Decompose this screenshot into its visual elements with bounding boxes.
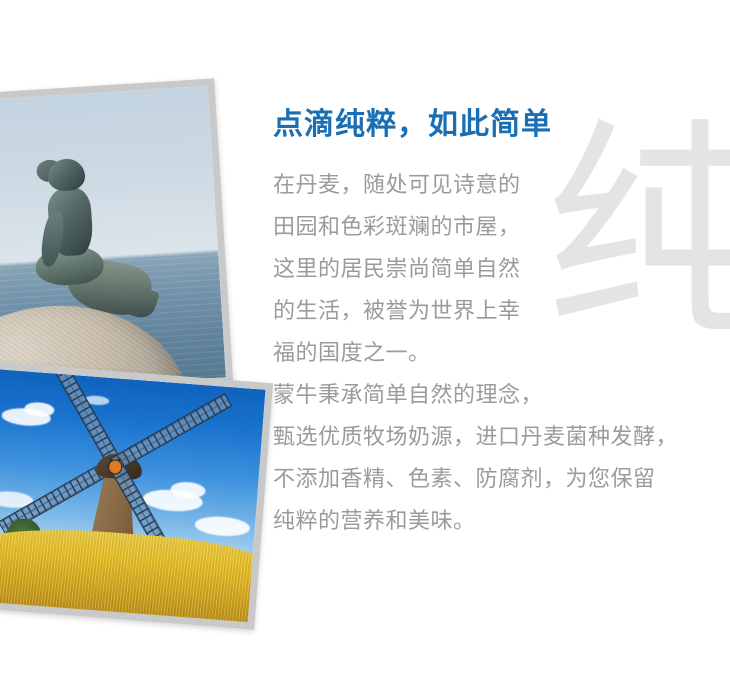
little-mermaid-statue-photo: [0, 78, 233, 399]
statue-head: [47, 158, 86, 192]
windmill-scene: [0, 369, 266, 622]
text-line: 在丹麦，随处可见诗意的: [273, 164, 725, 206]
text-line: 不添加香精、色素、防腐剂，为您保留: [273, 458, 725, 500]
text-line: 的生活，被誉为世界上幸: [273, 290, 725, 332]
mermaid-scene: [0, 86, 226, 392]
copy-column: 点滴纯粹，如此简单 在丹麦，随处可见诗意的 田园和色彩斑斓的市屋， 这里的居民崇…: [273, 106, 725, 542]
paragraph-denmark-intro: 在丹麦，随处可见诗意的 田园和色彩斑斓的市屋， 这里的居民崇尚简单自然 的生活，…: [273, 164, 725, 374]
windmill-field-photo: [0, 361, 273, 629]
page-title: 点滴纯粹，如此简单: [273, 106, 725, 144]
paragraph-brand-claim: 蒙牛秉承简单自然的理念， 甄选优质牧场奶源，进口丹麦菌种发酵， 不添加香精、色素…: [273, 374, 725, 542]
mermaid-statue: [36, 154, 156, 330]
text-line: 甄选优质牧场奶源，进口丹麦菌种发酵，: [273, 416, 725, 458]
text-line: 蒙牛秉承简单自然的理念，: [273, 374, 725, 416]
promo-banner: 纯: [0, 0, 730, 676]
text-line: 福的国度之一。: [273, 332, 725, 374]
text-line: 纯粹的营养和美味。: [273, 500, 725, 542]
text-line: 这里的居民崇尚简单自然: [273, 248, 725, 290]
text-line: 田园和色彩斑斓的市屋，: [273, 206, 725, 248]
